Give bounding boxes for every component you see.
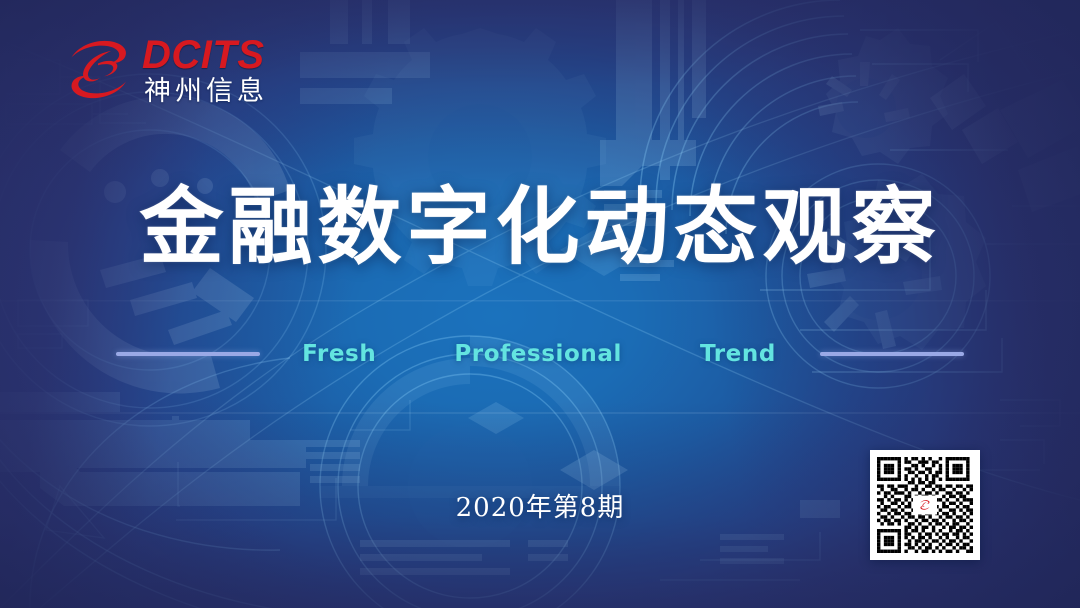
dcits-wordmark: DCITS [142,35,265,75]
dcits-chinese-name: 神州信息 [144,78,268,105]
tagline-rule-right [820,352,964,356]
tagline-word-fresh: Fresh [302,341,376,367]
qr-code[interactable] [870,450,980,560]
poster-canvas: DCITS 神州信息 金融数字化动态观察 Fresh Professional … [0,0,1080,608]
tagline-word-professional: Professional [454,341,622,367]
tagline-rule-left [116,352,260,356]
page-title: 金融数字化动态观察 [0,183,1080,271]
qr-center-logo [913,496,937,515]
tagline-word-trend: Trend [700,341,776,367]
tagline-row: Fresh Professional Trend [0,340,1080,368]
qr-matrix [877,457,973,553]
dcits-swirl-icon [64,37,134,103]
dcits-logo: DCITS 神州信息 [64,33,279,111]
